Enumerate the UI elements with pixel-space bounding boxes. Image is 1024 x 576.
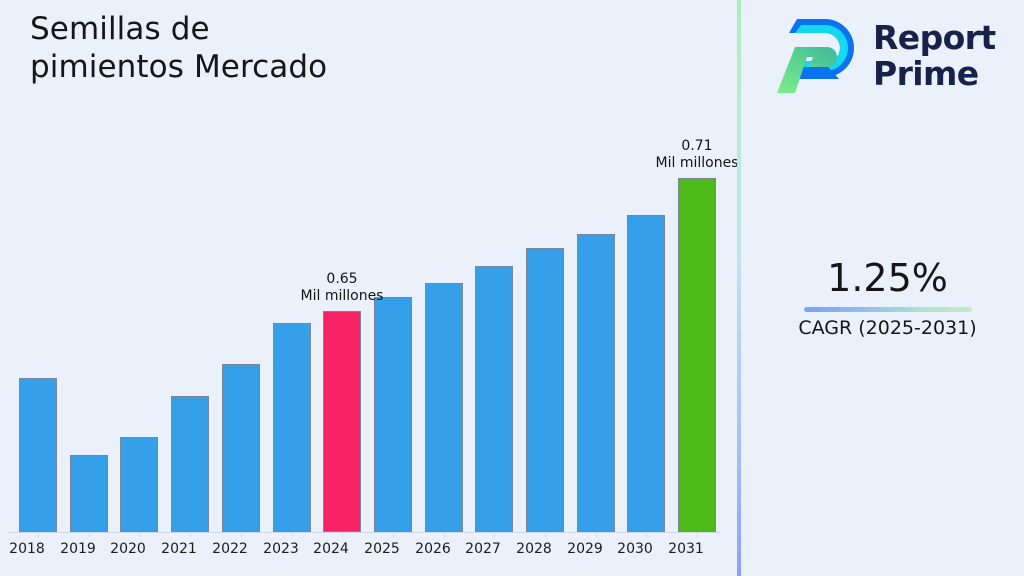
x-axis-tick-2031 xyxy=(697,532,698,537)
bar-rect-2021[interactable] xyxy=(171,396,209,532)
bar-rect-2026[interactable] xyxy=(425,283,463,532)
x-axis-tick-2020 xyxy=(139,532,140,537)
x-axis-tick-2030 xyxy=(646,532,647,537)
x-axis-line xyxy=(8,532,720,533)
x-axis-tick-2018 xyxy=(38,532,39,537)
x-axis-tick-2028 xyxy=(545,532,546,537)
panel-divider xyxy=(737,0,741,576)
bar-rect-2028[interactable] xyxy=(526,248,564,532)
bar-rect-2023[interactable] xyxy=(273,323,311,532)
bar-rect-2024[interactable] xyxy=(323,311,361,532)
bar-rect-2019[interactable] xyxy=(70,455,108,532)
bar-rect-2027[interactable] xyxy=(475,266,513,532)
cagr-value: 1.25% xyxy=(760,255,1015,301)
x-axis-label-2031: 2031 xyxy=(656,540,716,558)
bar-rect-2022[interactable] xyxy=(222,364,260,532)
bar-value-label-2024: 0.65 Mil millones xyxy=(262,271,422,305)
x-axis-tick-2021 xyxy=(190,532,191,537)
x-axis-tick-2025 xyxy=(393,532,394,537)
bar-rect-2031[interactable] xyxy=(678,178,716,532)
x-axis-tick-2027 xyxy=(494,532,495,537)
cagr-label: CAGR (2025-2031) xyxy=(760,316,1015,340)
x-axis-tick-2022 xyxy=(241,532,242,537)
chart-infographic: Semillas de pimientos Mercado 2018201920… xyxy=(0,0,1024,576)
bar-rect-2029[interactable] xyxy=(577,234,615,532)
x-axis-tick-2024 xyxy=(342,532,343,537)
x-axis-tick-2029 xyxy=(596,532,597,537)
bar-rect-2025[interactable] xyxy=(374,297,412,532)
bar-value-label-2031: 0.71 Mil millones xyxy=(617,138,777,172)
bar-rect-2018[interactable] xyxy=(19,378,57,532)
bar-chart: 2018201920202021202220232024202520262027… xyxy=(0,0,737,576)
bar-rect-2020[interactable] xyxy=(120,437,158,532)
brand-logo: Report Prime xyxy=(775,10,1007,102)
x-axis-tick-2019 xyxy=(89,532,90,537)
cagr-divider-rule xyxy=(804,307,972,312)
cagr-block: 1.25% CAGR (2025-2031) xyxy=(760,255,1015,340)
x-axis-tick-2026 xyxy=(444,532,445,537)
report-prime-logo-mark xyxy=(775,15,861,97)
logo-wordmark: Report Prime xyxy=(873,20,996,92)
bar-rect-2030[interactable] xyxy=(627,215,665,532)
x-axis-tick-2023 xyxy=(292,532,293,537)
